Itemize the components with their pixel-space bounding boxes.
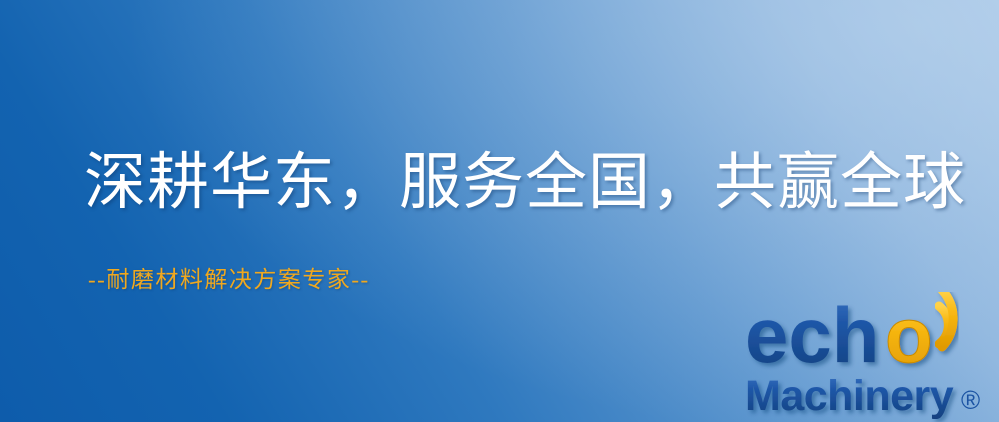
registered-mark-icon: ® bbox=[961, 385, 980, 415]
hero-banner: 深耕华东，服务全国，共赢全球 --耐磨材料解决方案专家-- bbox=[0, 0, 999, 422]
signal-arcs-icon bbox=[939, 292, 953, 347]
echo-machinery-logo[interactable]: ech o Machinery ® bbox=[745, 292, 999, 422]
logo-wordmark-o: o bbox=[885, 292, 933, 379]
logo-wordmark-ech: ech bbox=[745, 292, 879, 379]
banner-subtitle: --耐磨材料解决方案专家-- bbox=[88, 268, 370, 291]
logo-artwork: ech o Machinery ® bbox=[745, 292, 999, 422]
logo-tagline: Machinery bbox=[745, 372, 954, 420]
banner-headline: 深耕华东，服务全国，共赢全球 bbox=[84, 152, 966, 214]
